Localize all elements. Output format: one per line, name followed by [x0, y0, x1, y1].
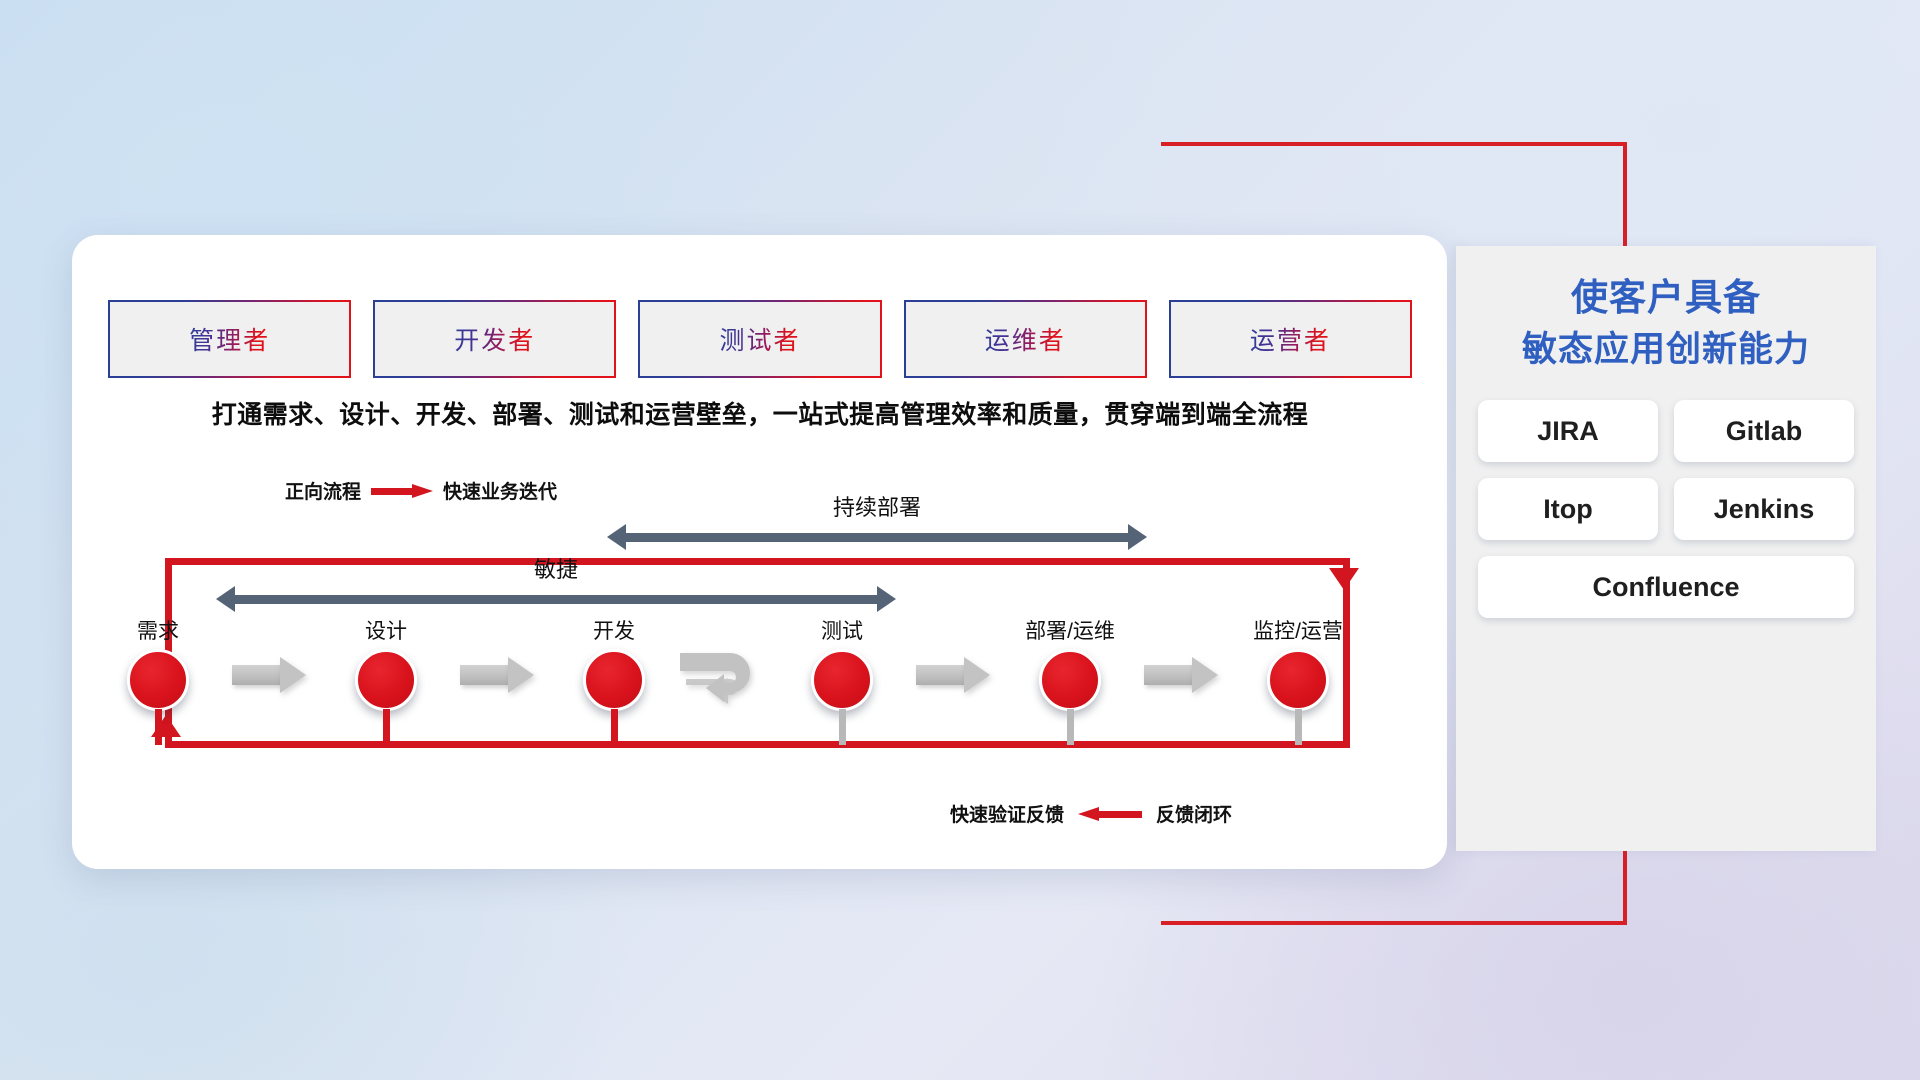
arrow-right-gray-icon: [916, 657, 990, 693]
tool-chip-confluence[interactable]: Confluence: [1478, 556, 1854, 618]
role-label: 运维者: [985, 321, 1066, 357]
pipeline-node-develop[interactable]: 开发: [566, 615, 662, 745]
panel-title-line1: 使客户具备: [1478, 272, 1854, 325]
tool-chip-jenkins[interactable]: Jenkins: [1674, 478, 1854, 540]
role-box-group: 管理者 开发者 测试者 运维者 运营者: [110, 302, 1410, 376]
role-label: 开发者: [454, 321, 535, 357]
role-box-manager[interactable]: 管理者: [110, 302, 349, 376]
tool-chip-itop[interactable]: Itop: [1478, 478, 1658, 540]
span-arrow-caption: 敏捷: [216, 552, 896, 584]
legend-forward-right-label: 快速业务迭代: [443, 477, 557, 504]
arrow-right-gray-icon: [460, 657, 534, 693]
pipeline-node-stem: [383, 709, 390, 745]
pipeline-node-deploy-ops[interactable]: 部署/运维: [1022, 615, 1118, 745]
arrow-right-gray-icon: [1144, 657, 1218, 693]
span-arrow-caption: 持续部署: [607, 490, 1147, 522]
pipeline-node-label: 设计: [338, 615, 434, 645]
pipeline-node-label: 测试: [794, 615, 890, 645]
role-box-ops[interactable]: 运维者: [906, 302, 1145, 376]
slide-canvas: 管理者 开发者 测试者 运维者 运营者 打通需求、设计、开发、部署、测试和运营壁…: [0, 0, 1920, 1080]
pipeline-node-stem: [611, 709, 618, 745]
pipeline-node-dot: [811, 649, 873, 711]
pipeline-node-dot: [1039, 649, 1101, 711]
role-label: 测试者: [720, 321, 801, 357]
arrow-head-right-icon: [1128, 524, 1147, 550]
pipeline-node-monitor-operate[interactable]: 监控/运营: [1250, 615, 1346, 745]
legend-feedback-loop: 快速验证反馈 反馈闭环: [950, 800, 1232, 827]
role-label: 运营者: [1250, 321, 1331, 357]
arrow-bar: [623, 533, 1131, 542]
span-arrow-continuous-deployment: 持续部署: [607, 524, 1147, 550]
pipeline-node-dot: [355, 649, 417, 711]
legend-feedback-left-label: 快速验证反馈: [950, 800, 1064, 827]
role-box-tester[interactable]: 测试者: [640, 302, 879, 376]
arrow-head-right-icon: [877, 586, 896, 612]
tool-chip-group: JIRA Gitlab Itop Jenkins Confluence: [1478, 400, 1854, 618]
tool-chip-jira[interactable]: JIRA: [1478, 400, 1658, 462]
pipeline-node-dot: [1267, 649, 1329, 711]
loop-arrow-down-right-icon: [1329, 568, 1359, 590]
pipeline-node-stem: [1295, 709, 1302, 745]
role-box-operator[interactable]: 运营者: [1171, 302, 1410, 376]
pipeline-node-label: 开发: [566, 615, 662, 645]
pipeline-node-stem: [839, 709, 846, 745]
span-arrow-agile: 敏捷: [216, 586, 896, 612]
role-box-developer[interactable]: 开发者: [375, 302, 614, 376]
arrow-bar: [232, 595, 880, 604]
arrow-right-gray-icon: [232, 657, 306, 693]
pipeline-node-design[interactable]: 设计: [338, 615, 434, 745]
pipeline-node-stem: [155, 709, 162, 745]
pipeline-node-label: 监控/运营: [1250, 615, 1346, 645]
pipeline-node-dot: [583, 649, 645, 711]
tool-chip-gitlab[interactable]: Gitlab: [1674, 400, 1854, 462]
panel-title: 使客户具备 敏态应用创新能力: [1478, 272, 1854, 374]
headline-text: 打通需求、设计、开发、部署、测试和运营壁垒，一站式提高管理效率和质量，贯穿端到端…: [110, 395, 1410, 431]
pipeline-node-test[interactable]: 测试: [794, 615, 890, 745]
pipeline-node-stem: [1067, 709, 1074, 745]
pipeline-node-requirement[interactable]: 需求: [110, 615, 206, 745]
value-proposition-panel: 使客户具备 敏态应用创新能力 JIRA Gitlab Itop Jenkins …: [1456, 246, 1876, 851]
legend-feedback-right-label: 反馈闭环: [1156, 800, 1232, 827]
pipeline-node-label: 部署/运维: [1022, 615, 1118, 645]
pipeline-node-label: 需求: [110, 615, 206, 645]
arrow-right-red-icon: [371, 484, 433, 498]
panel-title-line2: 敏态应用创新能力: [1478, 325, 1854, 375]
role-label: 管理者: [189, 321, 270, 357]
loop-uturn-gray-icon: [680, 645, 770, 713]
devops-pipeline: 需求 设计 开发: [110, 615, 1410, 755]
pipeline-node-dot: [127, 649, 189, 711]
legend-forward-flow: 正向流程 快速业务迭代: [285, 477, 557, 504]
legend-forward-left-label: 正向流程: [285, 477, 361, 504]
arrow-left-red-icon: [1078, 807, 1142, 821]
